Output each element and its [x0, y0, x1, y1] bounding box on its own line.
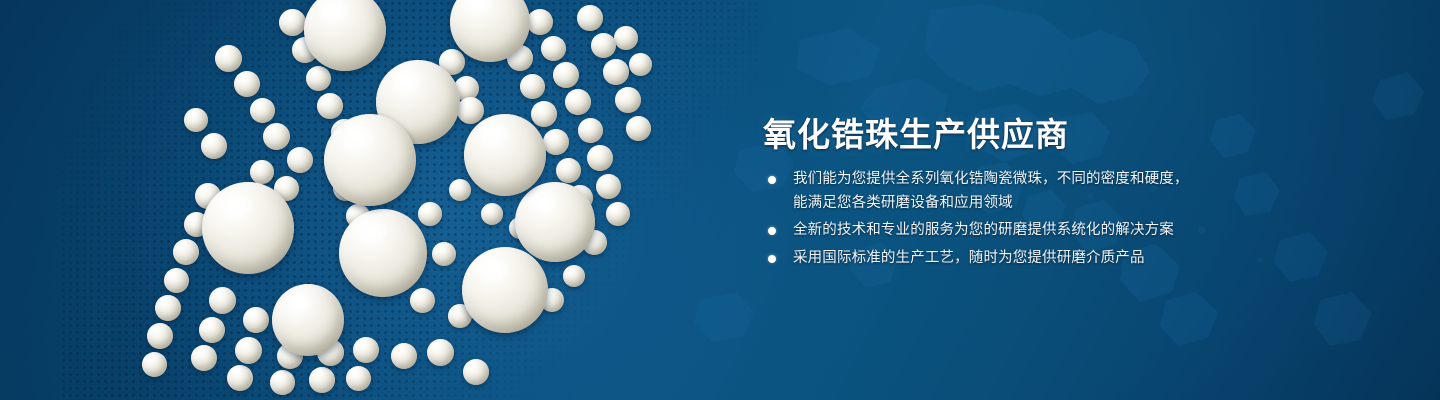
- ceramic-bead: [418, 202, 442, 226]
- ceramic-bead: [614, 26, 638, 50]
- ceramic-bead: [279, 9, 306, 36]
- hero-banner: 氧化锆珠生产供应商 我们能为您提供全系列氧化锆陶瓷微珠，不同的密度和硬度，能满足…: [0, 0, 1440, 400]
- ceramic-bead: [250, 98, 275, 123]
- ceramic-bead: [250, 160, 274, 184]
- ceramic-bead: [463, 359, 489, 385]
- ceramic-bead: [391, 343, 417, 369]
- ceramic-bead: [462, 247, 548, 333]
- ceramic-bead: [520, 74, 545, 99]
- feature-list-item-line: 全新的技术和专业的服务为您的研磨提供系统化的解决方案: [793, 219, 1233, 243]
- ceramic-bead: [606, 202, 630, 226]
- ceramic-bead: [209, 287, 236, 314]
- feature-list-item-line: 采用国际标准的生产工艺，随时为您提供研磨介质产品: [793, 247, 1233, 271]
- ceramic-bead: [346, 366, 371, 391]
- ceramic-bead: [202, 182, 294, 274]
- ceramic-bead: [309, 367, 335, 393]
- bullet-dot-icon: [768, 176, 776, 184]
- ceramic-bead: [543, 129, 569, 155]
- ceramic-bead: [553, 62, 579, 88]
- banner-copy: 氧化锆珠生产供应商 我们能为您提供全系列氧化锆陶瓷微珠，不同的密度和硬度，能满足…: [760, 0, 1360, 400]
- ceramic-bead: [577, 5, 603, 31]
- ceramic-bead: [227, 365, 253, 391]
- ceramic-bead: [515, 182, 595, 262]
- ceramic-bead: [432, 242, 456, 266]
- ceramic-bead: [287, 147, 313, 173]
- ceramic-bead: [464, 114, 546, 196]
- ceramic-bead: [324, 114, 416, 206]
- ceramic-bead: [272, 284, 344, 356]
- feature-list: 我们能为您提供全系列氧化锆陶瓷微珠，不同的密度和硬度，能满足您各类研磨设备和应用…: [763, 168, 1233, 274]
- ceramic-bead: [629, 53, 652, 76]
- ceramic-bead: [164, 268, 189, 293]
- ceramic-bead: [591, 33, 616, 58]
- ceramic-bead: [587, 145, 613, 171]
- ceramic-bead: [427, 339, 454, 366]
- ceramic-bead: [410, 288, 435, 313]
- feature-list-item: 采用国际标准的生产工艺，随时为您提供研磨介质产品: [763, 247, 1233, 271]
- ceramic-bead: [531, 101, 557, 127]
- ceramic-bead: [481, 203, 503, 225]
- ceramic-bead: [626, 116, 651, 141]
- ceramic-bead: [449, 179, 471, 201]
- bullet-dot-icon: [768, 227, 776, 235]
- ceramic-bead: [201, 133, 227, 159]
- ceramic-bead: [235, 337, 262, 364]
- ceramic-bead: [578, 118, 603, 143]
- ceramic-bead: [199, 317, 225, 343]
- ceramic-bead: [565, 89, 591, 115]
- ceramic-bead: [353, 337, 379, 363]
- ceramic-bead: [457, 97, 484, 124]
- ceramic-bead: [142, 352, 167, 377]
- ceramic-bead: [173, 239, 199, 265]
- feature-list-item: 我们能为您提供全系列氧化锆陶瓷微珠，不同的密度和硬度，能满足您各类研磨设备和应用…: [763, 168, 1233, 215]
- ceramic-bead: [615, 87, 641, 113]
- ceramic-bead: [147, 323, 173, 349]
- ceramic-bead: [263, 123, 290, 150]
- bullet-dot-icon: [768, 255, 776, 263]
- ceramic-bead: [317, 93, 343, 119]
- page-title: 氧化锆珠生产供应商: [763, 108, 1069, 156]
- ceramic-bead: [541, 36, 566, 61]
- ceramic-bead: [304, 0, 386, 71]
- feature-list-item-line: 能满足您各类研磨设备和应用领域: [793, 192, 1233, 216]
- feature-list-item-line: 我们能为您提供全系列氧化锆陶瓷微珠，不同的密度和硬度，: [793, 168, 1233, 192]
- ceramic-bead: [184, 108, 208, 132]
- ceramic-bead: [556, 158, 581, 183]
- ceramic-bead: [306, 66, 331, 91]
- ceramic-bead: [234, 71, 260, 97]
- ceramic-bead: [527, 9, 553, 35]
- ceramic-bead: [215, 45, 242, 72]
- ceramic-bead: [243, 307, 269, 333]
- ceramic-bead: [270, 370, 295, 395]
- ceramic-bead: [603, 59, 629, 85]
- zirconia-beads-photo: [0, 0, 760, 400]
- ceramic-bead: [191, 345, 217, 371]
- feature-list-item: 全新的技术和专业的服务为您的研磨提供系统化的解决方案: [763, 219, 1233, 243]
- ceramic-bead: [563, 265, 585, 287]
- ceramic-bead: [155, 295, 181, 321]
- ceramic-bead: [339, 209, 427, 297]
- ceramic-bead: [596, 174, 621, 199]
